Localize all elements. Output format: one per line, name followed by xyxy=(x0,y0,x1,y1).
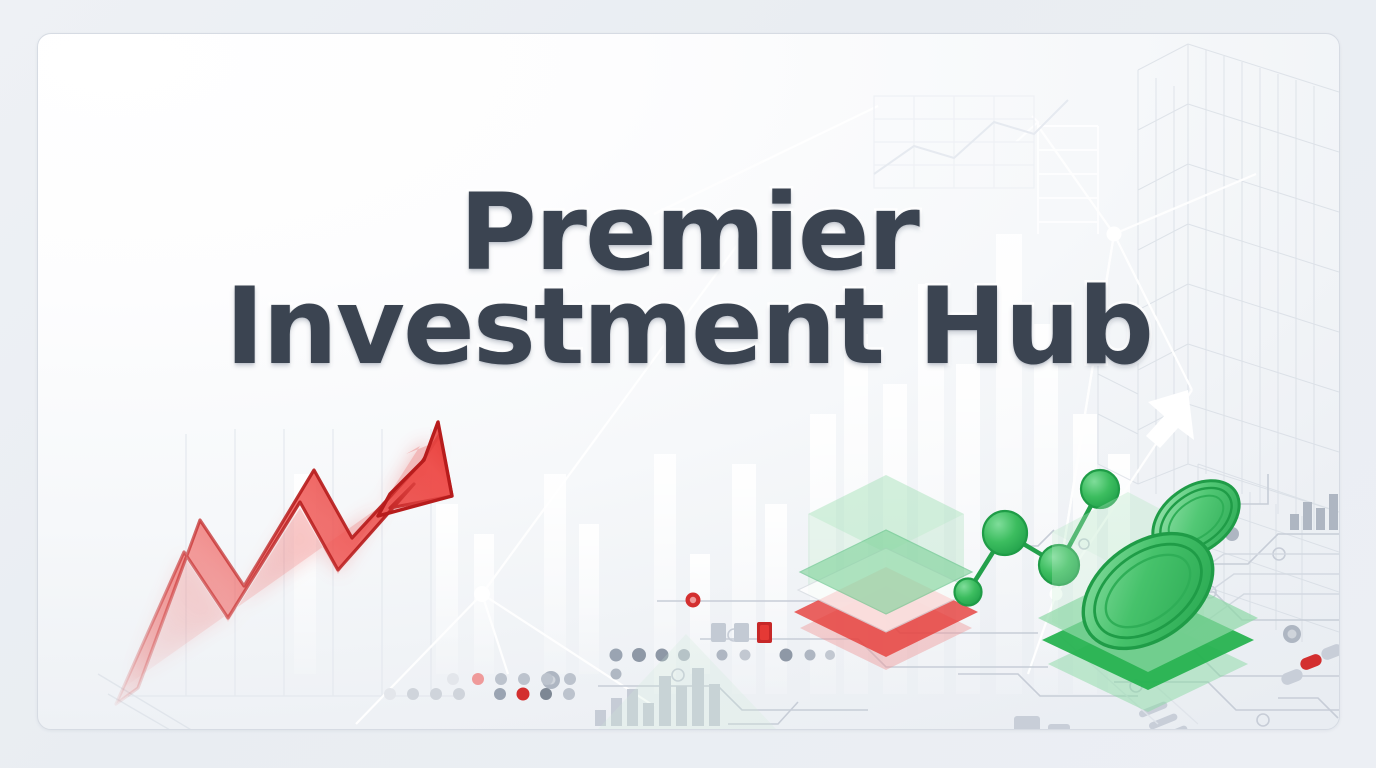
green-prism-glow xyxy=(808,475,964,633)
green-top-plate xyxy=(800,530,972,614)
red-bottom-plate-shadow xyxy=(800,586,972,670)
hero-banner-card: Premier Investment Hub xyxy=(37,33,1340,730)
dot-matrix-left xyxy=(384,673,576,701)
page-title: Premier Investment Hub xyxy=(38,179,1339,381)
dot-matrix-center xyxy=(610,648,836,680)
clear-middle-plate xyxy=(798,548,974,632)
coin-large xyxy=(1062,510,1235,672)
coin-small xyxy=(1138,465,1253,573)
pill-markers xyxy=(1280,642,1339,686)
mini-bar-chart-center xyxy=(595,668,720,726)
red-circuit-node xyxy=(686,593,701,608)
screenshot-root: Premier Investment Hub xyxy=(0,0,1376,768)
square-marker-row xyxy=(711,622,772,643)
red-bottom-plate xyxy=(794,567,978,657)
page-title-line-2: Investment Hub xyxy=(38,273,1339,381)
mini-bar-chart-icon-right xyxy=(1290,494,1338,530)
